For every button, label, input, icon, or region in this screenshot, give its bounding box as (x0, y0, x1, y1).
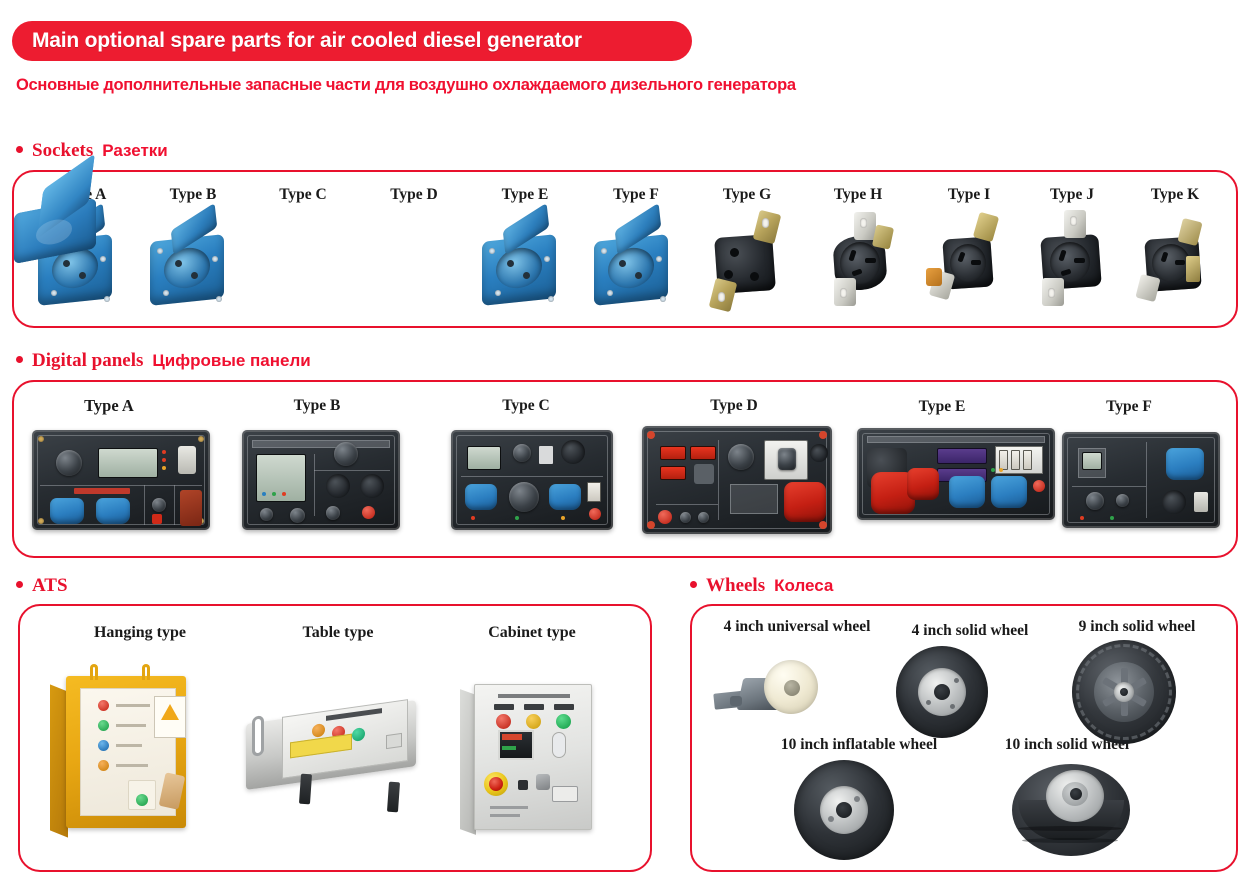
panel-label-b: Type B (242, 397, 392, 415)
section-title-wheels-en: Wheels (706, 575, 765, 597)
socket-label-h: Type H (803, 186, 913, 204)
wheel-label-9in-solid: 9 inch solid wheel (1052, 618, 1222, 636)
wheel-image-10in-inflatable (792, 758, 918, 860)
ats-label-table: Table type (258, 624, 418, 642)
section-header-ats: ATS (16, 575, 77, 597)
wheel-image-9in-solid (1070, 638, 1194, 742)
socket-label-d: Type D (359, 186, 469, 204)
panel-image-type-c (451, 430, 613, 530)
sockets-panel: Type A Type B Type C Type D Type E Type … (12, 170, 1238, 328)
panel-image-type-e (857, 428, 1055, 520)
wheel-label-10in-inflatable: 10 inch inflatable wheel (764, 736, 954, 754)
socket-image-type-g (706, 218, 798, 310)
socket-image-type-e (482, 216, 574, 308)
panel-image-type-a (32, 430, 210, 530)
digital-panels-panel: Type A Type B Type C Type D Type E Type … (12, 380, 1238, 558)
bullet-icon (16, 581, 23, 588)
panel-image-type-f (1062, 432, 1220, 528)
socket-label-b: Type B (138, 186, 248, 204)
section-header-wheels: Wheels Колеса (690, 575, 833, 597)
bullet-icon (16, 356, 23, 363)
socket-image-type-b (150, 216, 242, 308)
ats-image-hanging-type (66, 662, 216, 852)
section-title-wheels-ru: Колеса (774, 576, 833, 596)
bullet-icon (16, 146, 23, 153)
wheel-image-10in-solid (1000, 756, 1150, 860)
socket-image-type-f (594, 216, 686, 308)
catalog-page: Main optional spare parts for air cooled… (0, 0, 1250, 886)
ats-panel: Hanging type Table type Cabinet type (18, 604, 652, 872)
panel-image-type-b (242, 430, 400, 530)
panel-label-a: Type A (34, 396, 184, 416)
socket-label-k: Type K (1120, 186, 1230, 204)
socket-label-c: Type C (248, 186, 358, 204)
wheel-image-4in-solid (892, 642, 1004, 738)
socket-image-type-j (1030, 216, 1122, 310)
socket-image-type-i (926, 216, 1018, 310)
section-title-panels-en: Digital panels (32, 350, 143, 372)
socket-label-e: Type E (470, 186, 580, 204)
socket-label-g: Type G (692, 186, 802, 204)
ats-image-table-type (238, 682, 438, 832)
panel-label-c: Type C (451, 397, 601, 415)
panel-image-type-d (642, 426, 832, 534)
wheel-label-4in-universal: 4 inch universal wheel (702, 618, 892, 636)
bullet-icon (690, 581, 697, 588)
section-title-sockets-en: Sockets (32, 140, 93, 162)
page-subtitle-russian: Основные дополнительные запасные части д… (16, 76, 796, 95)
wheel-image-4in-universal (714, 648, 844, 728)
section-header-digital-panels: Digital panels Цифровые панели (16, 350, 311, 372)
page-title-banner: Main optional spare parts for air cooled… (12, 21, 692, 61)
panel-label-f: Type F (1054, 398, 1204, 416)
wheel-label-4in-solid: 4 inch solid wheel (890, 622, 1050, 640)
section-title-ats-en: ATS (32, 575, 68, 597)
section-title-panels-ru: Цифровые панели (152, 351, 310, 371)
socket-image-type-k (1132, 216, 1224, 310)
wheels-panel: 4 inch universal wheel 4 inch solid whee… (690, 604, 1238, 872)
socket-label-f: Type F (581, 186, 691, 204)
socket-image-type-h (820, 216, 912, 310)
section-title-sockets-ru: Разетки (102, 141, 168, 161)
ats-label-hanging: Hanging type (60, 624, 220, 642)
page-title: Main optional spare parts for air cooled… (12, 29, 582, 53)
ats-image-cabinet-type (460, 668, 620, 854)
panel-label-e: Type E (867, 398, 1017, 416)
socket-label-i: Type I (914, 186, 1024, 204)
panel-label-d: Type D (659, 397, 809, 415)
socket-label-j: Type J (1017, 186, 1127, 204)
ats-label-cabinet: Cabinet type (452, 624, 612, 642)
